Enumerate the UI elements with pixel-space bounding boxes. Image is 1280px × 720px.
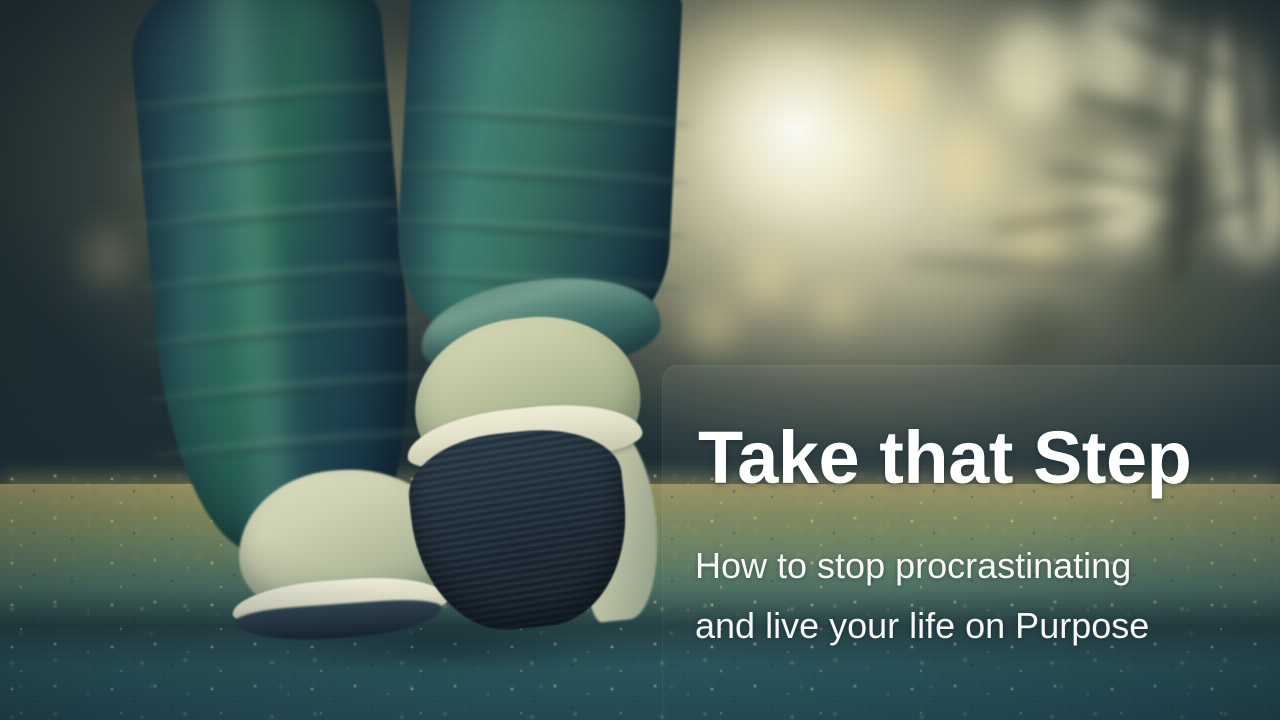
text-overlay-panel: Take that Step How to stop procrastinati…: [662, 365, 1280, 720]
subtitle-line-1: How to stop procrastinating: [695, 536, 1149, 596]
slide-title: Take that Step: [698, 421, 1191, 495]
slide-subtitle: How to stop procrastinating and live you…: [695, 536, 1149, 656]
subtitle-line-2: and live your life on Purpose: [695, 596, 1149, 656]
presentation-slide: Take that Step How to stop procrastinati…: [0, 0, 1280, 720]
